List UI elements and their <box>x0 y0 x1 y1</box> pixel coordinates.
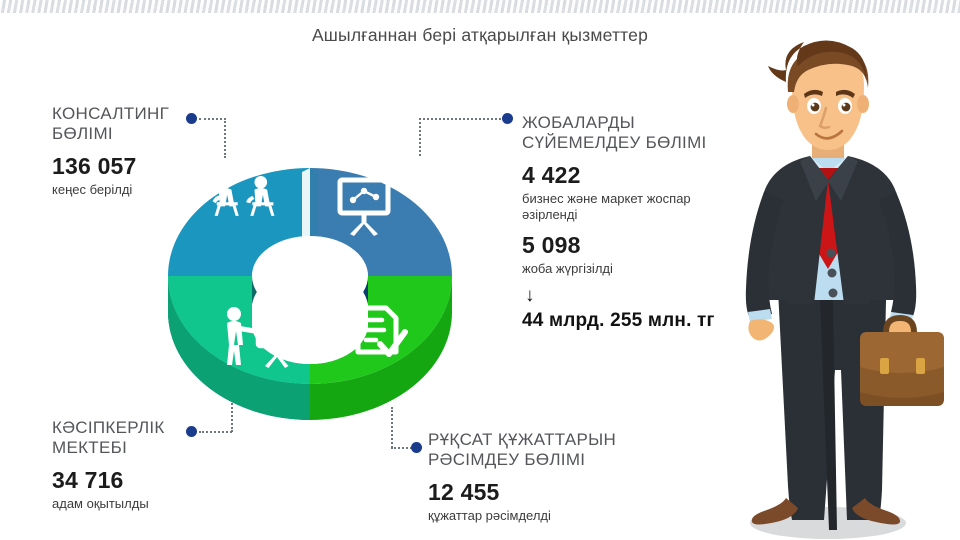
briefcase-latch <box>880 358 889 374</box>
pupil <box>842 103 851 112</box>
stat-value: 34 716 <box>52 467 242 494</box>
segment-facet-consulting <box>310 168 318 240</box>
connector-line <box>419 118 505 120</box>
suit-button <box>829 289 838 298</box>
pupil-highlight <box>843 104 846 107</box>
ear <box>787 95 799 113</box>
stat-block-permits: РҰҚСАТ ҚҰЖАТТАРЫН РӘСІМДЕУ БӨЛІМІ 12 455… <box>428 430 678 524</box>
suit-button <box>827 249 836 258</box>
pupil <box>811 103 820 112</box>
hand-left <box>748 319 774 340</box>
stat-caption: құжаттар рәсімделді <box>428 508 678 524</box>
businessman-illustration <box>700 40 960 540</box>
infographic-canvas: Ашылғаннан бері атқарылған қызметтер КОН… <box>0 0 960 540</box>
stat-block-school: КӘСІПКЕРЛІК МЕКТЕБІ 34 716 адам оқытылды <box>52 418 242 512</box>
stat-caption: адам оқытылды <box>52 496 242 512</box>
stat-heading: РҰҚСАТ ҚҰЖАТТАРЫН РӘСІМДЕУ БӨЛІМІ <box>428 430 678 470</box>
donut-chart <box>160 128 460 428</box>
connector-dot-permits <box>411 442 422 453</box>
pupil-highlight <box>812 104 815 107</box>
ear <box>857 95 869 113</box>
briefcase-latch <box>916 358 925 374</box>
top-decorative-strip <box>0 0 960 13</box>
briefcase-flap <box>860 332 944 373</box>
segment-gap-top <box>302 168 310 240</box>
connector-dot-projects <box>502 113 513 124</box>
suit-button <box>828 269 837 278</box>
stat-value: 12 455 <box>428 479 678 506</box>
